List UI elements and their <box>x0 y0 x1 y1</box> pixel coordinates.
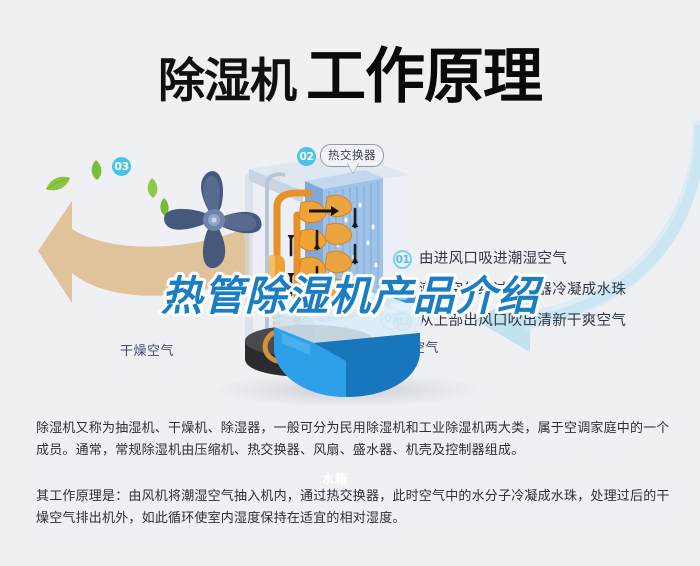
water-tank-label: 水箱 <box>322 470 348 487</box>
watermark-text: 热管除湿机产品介绍 <box>0 262 700 322</box>
body-paragraph-2: 其工作原理是：由风机将潮湿空气抽入机内，通过热交换器，此时空气中的水分子冷凝成水… <box>36 486 670 530</box>
callout-tail-icon <box>347 162 359 173</box>
leaf-icon <box>88 159 104 181</box>
fan-blades <box>155 165 273 275</box>
leaf-icon <box>45 175 71 193</box>
body-paragraph-1: 除湿机又称为抽湿机、干燥机、除湿器，一般可分为民用除湿机和工业除湿机两大类，属于… <box>36 418 670 462</box>
title-large-text: 工作原理 <box>306 42 542 112</box>
label-dry-air: 干燥空气 <box>120 340 174 359</box>
title-small-text: 除湿机 <box>158 54 296 109</box>
badge-heat-exchanger: 02 <box>297 147 316 166</box>
page-title: 除湿机工作原理 <box>0 28 700 115</box>
infographic-page: 除湿机工作原理 <box>0 0 700 566</box>
badge-dry-air: 03 <box>112 157 131 176</box>
